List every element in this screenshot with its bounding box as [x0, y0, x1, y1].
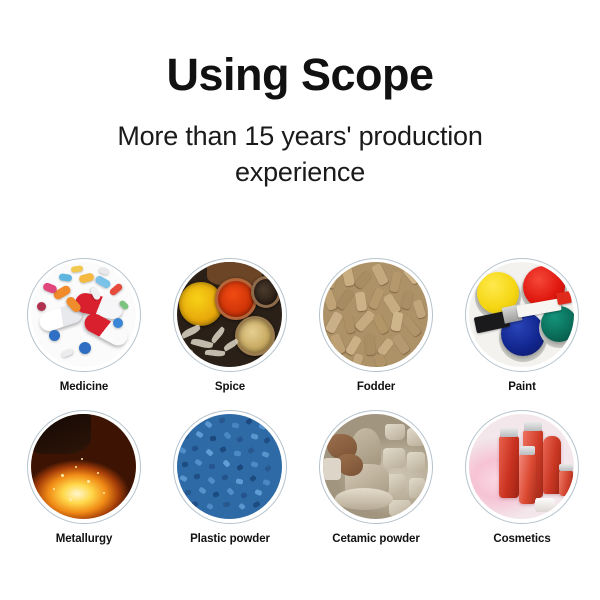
- application-label: Metallurgy: [56, 533, 113, 545]
- application-item-plastic-powder[interactable]: Plastic powder: [157, 410, 303, 545]
- metallurgy-photo: [31, 414, 136, 519]
- application-label: Fodder: [357, 381, 395, 393]
- application-label: Spice: [215, 381, 245, 393]
- medicine-thumbnail[interactable]: [27, 258, 141, 372]
- cosmetics-thumbnail[interactable]: [465, 410, 579, 524]
- application-item-fodder[interactable]: Fodder: [303, 258, 449, 393]
- metallurgy-thumbnail[interactable]: [27, 410, 141, 524]
- application-row-1: Medicine: [0, 258, 600, 393]
- application-grid: Medicine: [0, 258, 600, 562]
- plastic-powder-thumbnail[interactable]: [173, 410, 287, 524]
- spice-thumbnail[interactable]: [173, 258, 287, 372]
- application-label: Paint: [508, 381, 536, 393]
- cosmetics-photo: [469, 414, 574, 519]
- fodder-photo: [323, 262, 428, 367]
- application-label: Cosmetics: [493, 533, 550, 545]
- plastic-powder-photo: [177, 414, 282, 519]
- medicine-photo: [31, 262, 136, 367]
- application-item-spice[interactable]: Spice: [157, 258, 303, 393]
- page-subtitle: More than 15 years' production experienc…: [70, 119, 530, 190]
- application-item-cosmetics[interactable]: Cosmetics: [449, 410, 595, 545]
- application-item-medicine[interactable]: Medicine: [11, 258, 157, 393]
- fodder-thumbnail[interactable]: [319, 258, 433, 372]
- spice-photo: [177, 262, 282, 367]
- application-item-metallurgy[interactable]: Metallurgy: [11, 410, 157, 545]
- page-title: Using Scope: [0, 52, 600, 97]
- application-label: Plastic powder: [190, 533, 270, 545]
- using-scope-banner: Using Scope More than 15 years' producti…: [0, 0, 600, 600]
- ceramic-powder-photo: [323, 414, 428, 519]
- application-item-paint[interactable]: Paint: [449, 258, 595, 393]
- ceramic-powder-thumbnail[interactable]: [319, 410, 433, 524]
- application-item-ceramic-powder[interactable]: Cetamic powder: [303, 410, 449, 545]
- paint-photo: [469, 262, 574, 367]
- application-label: Cetamic powder: [332, 533, 419, 545]
- application-row-2: Metallurgy: [0, 410, 600, 545]
- application-label: Medicine: [60, 381, 108, 393]
- header: Using Scope More than 15 years' producti…: [0, 0, 600, 190]
- paint-thumbnail[interactable]: [465, 258, 579, 372]
